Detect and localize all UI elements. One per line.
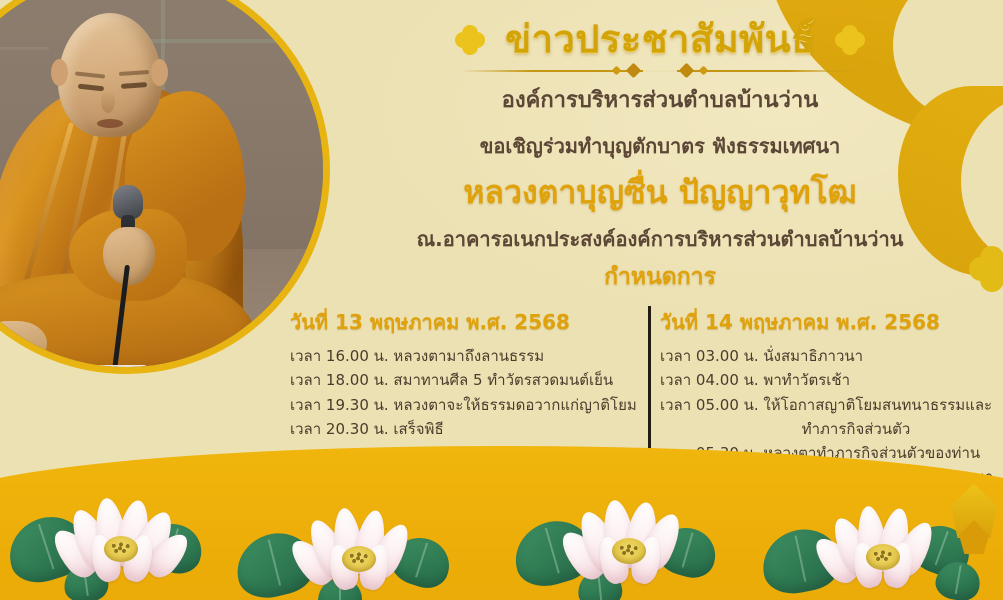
schedule-item: เวลา 20.30 น. เสร็จพิธี [290, 417, 626, 441]
monk-ear-left [51, 59, 68, 86]
schedule-item: เวลา 18.00 น. สมาทานศีล 5 ทำวัตรสวดมนต์เ… [290, 368, 626, 392]
monk-nose [101, 91, 115, 113]
schedule-item: เวลา 16.00 น. หลวงตามาถึงลานธรรม [290, 344, 626, 368]
page-title: ข่าวประชาสัมพันธ์ [505, 18, 815, 62]
monk-hand-holding-mic [103, 227, 155, 285]
monk-photo-image [0, 0, 323, 367]
monk-ear-right [151, 59, 168, 86]
quatrefoil-ornament-right-icon [835, 25, 865, 55]
title-divider [460, 64, 860, 78]
quatrefoil-ornament-left-icon [455, 25, 485, 55]
microphone-head [113, 185, 143, 219]
schedule-item-continuation: ทำภารกิจส่วนตัว [660, 417, 990, 441]
day2-heading: วันที่ 14 พฤษภาคม พ.ศ. 2568 [660, 306, 990, 338]
announcement-poster: ข่าวประชาสัมพันธ์ องค์การบริหารส่วนตำบลบ… [0, 0, 1003, 600]
wall-seam-horizontal-left [0, 47, 49, 50]
poster-header: ข่าวประชาสัมพันธ์ องค์การบริหารส่วนตำบลบ… [330, 18, 990, 293]
venue-line: ณ.อาคารอเนกประสงค์องค์การบริหารส่วนตำบลบ… [330, 224, 990, 254]
lotus-flower [288, 498, 448, 600]
organization-line: องค์การบริหารส่วนตำบลบ้านว่าน [330, 84, 990, 117]
edge-quatrefoil-icon [969, 246, 1003, 292]
lotus-flower [52, 490, 212, 600]
monk-name: หลวงตาบุญซื่น ปัญญาวุทโฒ [330, 171, 990, 214]
title-row: ข่าวประชาสัมพันธ์ [330, 18, 990, 62]
schedule-item: เวลา 05.00 น. ให้โอกาสญาติโยมสนทนาธรรมแล… [660, 393, 990, 417]
day1-heading: วันที่ 13 พฤษภาคม พ.ศ. 2568 [290, 306, 626, 338]
invitation-line: ขอเชิญร่วมทำบุญตักบาตร ฟังธรรมเทศนา [330, 131, 990, 161]
schedule-label: กำหนดการ [330, 262, 990, 293]
monk-photo [0, 0, 330, 374]
schedule-item: เวลา 04.00 น. พาทำวัตรเช้า [660, 368, 990, 392]
monk-mouth [97, 119, 123, 128]
lotus-flower [812, 496, 972, 600]
schedule-item: เวลา 19.30 น. หลวงตาจะให้ธรรมดอวากแก่ญาต… [290, 393, 626, 417]
schedule-item: เวลา 03.00 น. นั่งสมาธิภาวนา [660, 344, 990, 368]
lotus-flower [560, 492, 720, 600]
